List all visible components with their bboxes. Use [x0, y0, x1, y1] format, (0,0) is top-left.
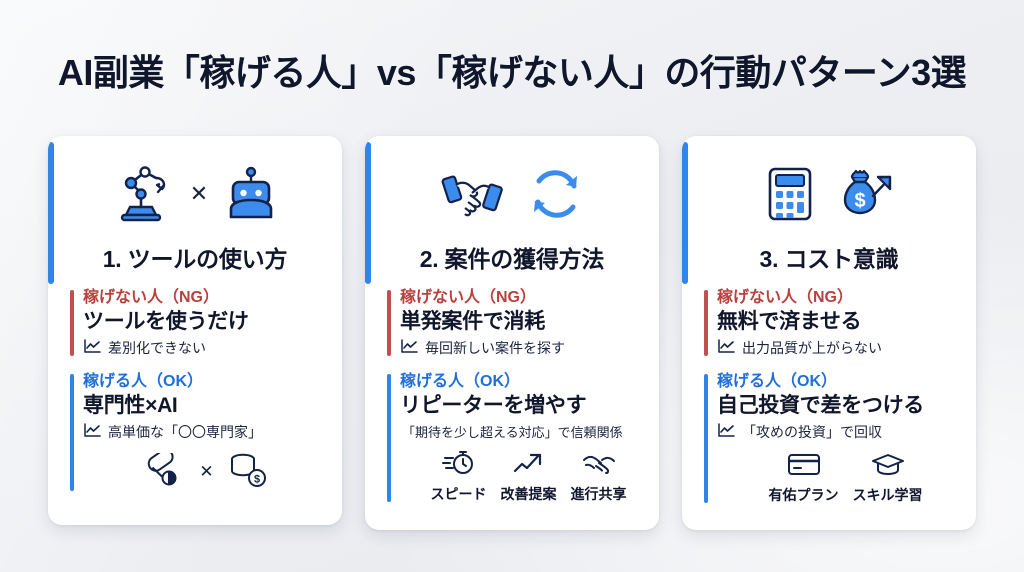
handshake-icon [438, 166, 510, 222]
card-header: $ 3. コスト意識 [682, 136, 976, 274]
page-title: AI副業「稼げる人」vs「稼げない人」の行動パターン3選 [0, 44, 1024, 96]
footer-icon-items: 有佑プラン スキル学習 [739, 450, 952, 505]
footer-item: 進行共享 [571, 449, 627, 504]
ng-block: 稼げない人（NG） 単発案件で消耗 毎回新しい案件を探す [387, 288, 647, 358]
footer-item: 改善提案 [501, 449, 557, 504]
line-chart-icon [400, 339, 418, 357]
footer-item: 有佑プラン [769, 450, 839, 505]
ok-block: 稼げる人（OK） 自己投資で差をつける 「攻めの投資」で回収 [704, 372, 964, 505]
ng-sub: 出力品質が上がらない [717, 338, 964, 358]
footer-item-label: 有佑プラン [769, 485, 839, 505]
svg-text:$: $ [254, 473, 260, 485]
footer-item-label: 進行共享 [571, 484, 627, 504]
ng-main-text: ツールを使うだけ [83, 309, 330, 336]
robot-arm-icon [112, 165, 174, 223]
line-chart-icon [717, 339, 735, 357]
footer-item-label: 改善提案 [501, 484, 557, 504]
ok-main-text: 自己投資で差をつける [717, 393, 964, 420]
card-tools[interactable]: ✕ 1. ツールの使い方 稼げない人（NG） ツールを使うだけ [48, 136, 342, 525]
ok-sub: 「攻めの投資」で回収 [717, 422, 964, 442]
page-title-text: AI副業「稼げる人」vs「稼げない人」の行動パターン3選 [0, 44, 1024, 96]
footer-item-label: スピード [431, 484, 487, 504]
robot-face-icon [224, 165, 278, 223]
ng-sub-text: 差別化できない [108, 338, 206, 358]
ng-sub: 毎回新しい案件を探す [400, 338, 647, 358]
card-accent-bar [682, 142, 688, 284]
ok-sub-text: 高単価な「〇〇専門家」 [108, 422, 262, 442]
ok-main-text: リピーターを増やす [400, 393, 647, 420]
money-bag-growth-icon: $ [833, 165, 895, 223]
calculator-icon [763, 165, 817, 223]
ng-main-text: 無料で済ませる [717, 309, 964, 336]
ok-sub-text: 「期待を少し超える対応」で信頼関係 [402, 422, 623, 441]
graduation-cap-icon [870, 450, 906, 483]
footer-item-label: スキル学習 [853, 485, 923, 505]
svg-text:$: $ [854, 190, 865, 212]
card-title: 2. 案件の獲得方法 [365, 240, 659, 274]
card-accent-bar [365, 142, 371, 284]
ok-main-text: 専門性×AI [83, 393, 330, 420]
ok-sub: 「期待を少し超える対応」で信頼関係 [400, 422, 647, 441]
multiply-icon: ✕ [190, 183, 208, 205]
ng-label: 稼げない人（NG） [400, 288, 647, 308]
credit-card-icon [786, 450, 822, 483]
footer-item: スピード [431, 449, 487, 504]
ng-main-text: 単発案件で消耗 [400, 309, 647, 336]
card-title: 1. ツールの使い方 [48, 240, 342, 274]
line-chart-icon [83, 339, 101, 357]
card-header: ✕ 1. ツールの使い方 [48, 136, 342, 274]
ng-sub: 差別化できない [83, 338, 330, 358]
footer-icon-items: スピード 改善提案 [422, 449, 635, 504]
ok-sub-text: 「攻めの投資」で回収 [742, 422, 882, 442]
card-header-icons [365, 158, 659, 230]
coin-stack-dollar-icon: $ [226, 452, 270, 493]
trend-up-arrow-icon [512, 449, 546, 482]
handshake-line-icon [582, 449, 616, 482]
ng-sub-text: 出力品質が上がらない [742, 338, 882, 358]
ok-block: 稼げる人（OK） 専門性×AI 高単価な「〇〇専門家」 [70, 372, 330, 493]
footer-item: スキル学習 [853, 450, 923, 505]
card-header: 2. 案件の獲得方法 [365, 136, 659, 274]
multiply-icon: ✕ [199, 462, 213, 482]
line-chart-icon [83, 423, 101, 441]
line-chart-icon [717, 423, 735, 441]
card-accent-bar [48, 142, 54, 284]
card-cost-awareness[interactable]: $ 3. コスト意識 稼げない人（NG） 無料で済ませる [682, 136, 976, 530]
capsule-pill-icon [143, 453, 187, 492]
card-header-icons: ✕ [48, 158, 342, 230]
card-list: ✕ 1. ツールの使い方 稼げない人（NG） ツールを使うだけ [48, 136, 976, 532]
stopwatch-icon [442, 449, 476, 482]
ok-label: 稼げる人（OK） [83, 372, 330, 392]
ok-sub: 高単価な「〇〇専門家」 [83, 422, 330, 442]
ng-block: 稼げない人（NG） 無料で済ませる 出力品質が上がらない [704, 288, 964, 358]
ok-label: 稼げる人（OK） [400, 372, 647, 392]
ok-block: 稼げる人（OK） リピーターを増やす 「期待を少し超える対応」で信頼関係 [387, 372, 647, 504]
ng-sub-text: 毎回新しい案件を探す [425, 338, 565, 358]
card-title: 3. コスト意識 [682, 240, 976, 274]
footer-icon-pair: ✕ $ [83, 452, 330, 493]
ok-label: 稼げる人（OK） [717, 372, 964, 392]
ng-label: 稼げない人（NG） [83, 288, 330, 308]
card-client-acquisition[interactable]: 2. 案件の獲得方法 稼げない人（NG） 単発案件で消耗 毎回新しい案件を探す … [365, 136, 659, 530]
refresh-cycle-icon [526, 166, 586, 222]
ng-block: 稼げない人（NG） ツールを使うだけ 差別化できない [70, 288, 330, 358]
card-header-icons: $ [682, 158, 976, 230]
ng-label: 稼げない人（NG） [717, 288, 964, 308]
